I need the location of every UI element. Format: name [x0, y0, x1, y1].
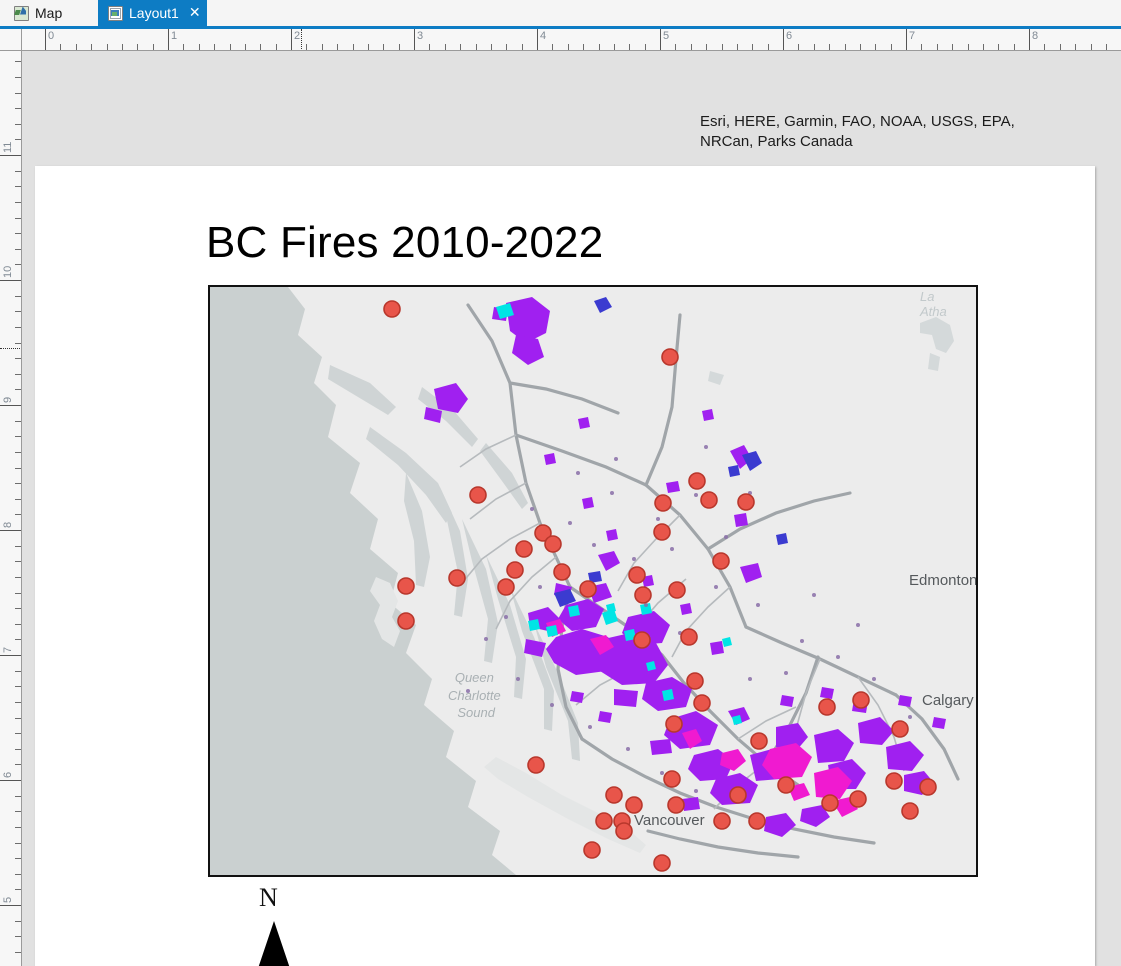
ruler-tick-minor [15, 343, 21, 344]
ruler-tick-minor [60, 44, 61, 50]
tab-layout1[interactable]: Layout1 ✕ [98, 0, 207, 26]
ruler-tick-minor [214, 44, 215, 50]
ruler-tick-major [0, 530, 22, 531]
ruler-tick-minor [15, 499, 21, 500]
ruler-tick-minor [15, 811, 21, 812]
close-icon[interactable]: ✕ [189, 6, 201, 20]
map-icon [14, 6, 29, 21]
ruler-tick-minor [15, 608, 21, 609]
arcgis-pro-layout-window: Map Layout1 ✕ 012345678 111098765 Esri, … [0, 0, 1121, 966]
ruler-tick-minor [15, 124, 21, 125]
ruler-tick-minor [15, 311, 21, 312]
ruler-tick-minor [15, 718, 21, 719]
map-graphic [210, 287, 976, 875]
ruler-tick-minor [445, 44, 446, 50]
ruler-tick-minor [937, 44, 938, 50]
ruler-guide-horizontal[interactable] [301, 29, 302, 51]
ruler-label: 5 [660, 30, 669, 42]
ruler-tick-minor [15, 843, 21, 844]
ruler-tick-minor [15, 61, 21, 62]
ruler-tick-minor [15, 186, 21, 187]
ruler-tick-minor [15, 171, 21, 172]
ruler-tick-minor [860, 44, 861, 50]
ruler-tick-minor [506, 44, 507, 50]
ruler-tick-minor [429, 44, 430, 50]
ruler-tick-minor [368, 44, 369, 50]
ruler-tick-minor [15, 593, 21, 594]
ruler-tick-minor [568, 44, 569, 50]
ruler-tick-minor [245, 44, 246, 50]
basemap-attribution: Esri, HERE, Garmin, FAO, NOAA, USGS, EPA… [700, 112, 1030, 153]
ruler-tick-minor [230, 44, 231, 50]
page-title[interactable]: BC Fires 2010-2022 [206, 218, 603, 268]
ruler-tick-minor [814, 44, 815, 50]
ruler-tick-minor [522, 44, 523, 50]
ruler-tick-minor [15, 374, 21, 375]
ruler-tick-major [0, 405, 22, 406]
ruler-tick-minor [1060, 44, 1061, 50]
ruler-tick-minor [15, 546, 21, 547]
ruler-label: 8 [2, 522, 14, 528]
ruler-tick-minor [737, 44, 738, 50]
ruler-tick-minor [15, 327, 21, 328]
ruler-tick-minor [706, 44, 707, 50]
north-arrow-icon [243, 921, 305, 966]
ruler-tick-minor [383, 44, 384, 50]
horizontal-ruler[interactable]: 012345678 [22, 29, 1121, 51]
ruler-tick-minor [15, 249, 21, 250]
ruler-tick-minor [629, 44, 630, 50]
ruler-tick-minor [322, 44, 323, 50]
ruler-tick-minor [15, 218, 21, 219]
ruler-tick-minor [845, 44, 846, 50]
ruler-tick-minor [15, 358, 21, 359]
ruler-label: 6 [783, 30, 792, 42]
ruler-tick-minor [76, 44, 77, 50]
ruler-tick-minor [15, 577, 21, 578]
ruler-tick-major [0, 780, 22, 781]
ruler-label: 0 [45, 30, 54, 42]
ruler-tick-minor [15, 233, 21, 234]
ruler-tick-minor [91, 44, 92, 50]
ruler-tick-minor [399, 44, 400, 50]
layout-page[interactable]: BC Fires 2010-2022 [35, 166, 1095, 966]
ruler-label: 7 [906, 30, 915, 42]
ruler-tick-minor [15, 561, 21, 562]
ruler-tick-minor [260, 44, 261, 50]
vertical-ruler[interactable]: 111098765 [0, 51, 22, 966]
ruler-tick-minor [891, 44, 892, 50]
layout-icon [108, 6, 123, 21]
ruler-tick-minor [107, 44, 108, 50]
ruler-tick-minor [15, 671, 21, 672]
ruler-label: 4 [537, 30, 546, 42]
tab-layout1-label: Layout1 [129, 5, 179, 21]
ruler-tick-minor [15, 93, 21, 94]
ruler-tick-minor [1014, 44, 1015, 50]
ruler-label: 8 [1029, 30, 1038, 42]
ruler-tick-minor [15, 202, 21, 203]
ruler-label: 11 [2, 142, 14, 153]
ruler-tick-minor [968, 44, 969, 50]
ruler-tick-minor [15, 421, 21, 422]
ruler-tick-minor [599, 44, 600, 50]
ruler-tick-minor [552, 44, 553, 50]
north-arrow-label: N [259, 883, 278, 913]
ruler-tick-minor [15, 889, 21, 890]
ruler-tick-major [0, 655, 22, 656]
ruler-tick-minor [15, 827, 21, 828]
ruler-tick-minor [15, 296, 21, 297]
ruler-tick-minor [491, 44, 492, 50]
ruler-corner [0, 29, 22, 51]
ruler-tick-minor [921, 44, 922, 50]
ruler-label: 2 [291, 30, 300, 42]
tab-map[interactable]: Map [4, 0, 72, 26]
ruler-tick-minor [15, 796, 21, 797]
ruler-label: 10 [2, 266, 14, 278]
ruler-tick-minor [15, 514, 21, 515]
ruler-tick-minor [15, 483, 21, 484]
ruler-tick-minor [829, 44, 830, 50]
ruler-tick-minor [476, 44, 477, 50]
ruler-tick-minor [137, 44, 138, 50]
ruler-tick-minor [752, 44, 753, 50]
ruler-tick-minor [15, 436, 21, 437]
ruler-tick-minor [15, 686, 21, 687]
ruler-tick-minor [983, 44, 984, 50]
layout-canvas[interactable]: Esri, HERE, Garmin, FAO, NOAA, USGS, EPA… [22, 51, 1121, 966]
ruler-tick-minor [15, 77, 21, 78]
north-arrow[interactable]: N [235, 883, 315, 966]
ruler-tick-minor [15, 921, 21, 922]
ruler-tick-minor [15, 139, 21, 140]
ruler-tick-minor [353, 44, 354, 50]
ruler-tick-minor [15, 952, 21, 953]
ruler-label: 9 [2, 397, 14, 403]
ruler-label: 6 [2, 772, 14, 778]
ruler-label: 5 [2, 897, 14, 903]
ruler-tick-minor [952, 44, 953, 50]
view-tab-strip: Map Layout1 ✕ [0, 0, 1121, 26]
ruler-tick-major [0, 280, 22, 281]
ruler-label: 1 [168, 30, 177, 42]
ruler-tick-minor [15, 468, 21, 469]
ruler-tick-minor [199, 44, 200, 50]
ruler-tick-minor [460, 44, 461, 50]
ruler-tick-major [0, 155, 22, 156]
ruler-label: 7 [2, 647, 14, 653]
ruler-tick-minor [691, 44, 692, 50]
ruler-tick-minor [15, 624, 21, 625]
ruler-tick-minor [875, 44, 876, 50]
ruler-tick-minor [15, 702, 21, 703]
ruler-tick-minor [183, 44, 184, 50]
ruler-tick-minor [122, 44, 123, 50]
ruler-tick-major [0, 905, 22, 906]
ruler-tick-minor [1091, 44, 1092, 50]
ruler-tick-minor [722, 44, 723, 50]
ruler-tick-minor [153, 44, 154, 50]
ruler-tick-minor [15, 639, 21, 640]
tab-map-label: Map [35, 5, 62, 21]
ruler-tick-minor [15, 874, 21, 875]
ruler-tick-minor [276, 44, 277, 50]
ruler-tick-minor [998, 44, 999, 50]
ruler-tick-minor [1044, 44, 1045, 50]
ruler-guide-vertical[interactable] [0, 348, 22, 349]
ruler-tick-minor [15, 936, 21, 937]
ruler-tick-minor [15, 108, 21, 109]
ruler-tick-minor [15, 749, 21, 750]
ruler-tick-minor [768, 44, 769, 50]
ruler-tick-minor [15, 452, 21, 453]
ruler-tick-minor [1106, 44, 1107, 50]
ruler-tick-minor [15, 733, 21, 734]
ruler-tick-minor [15, 858, 21, 859]
ruler-tick-minor [306, 44, 307, 50]
ruler-tick-minor [675, 44, 676, 50]
ruler-tick-minor [15, 764, 21, 765]
ruler-tick-minor [614, 44, 615, 50]
ruler-tick-minor [337, 44, 338, 50]
ruler-tick-minor [798, 44, 799, 50]
map-frame[interactable]: La Atha Queen Charlotte Sound Vancouver … [208, 285, 978, 877]
ruler-tick-minor [645, 44, 646, 50]
ruler-tick-minor [15, 389, 21, 390]
ruler-label: 3 [414, 30, 423, 42]
ruler-tick-minor [1075, 44, 1076, 50]
ruler-tick-minor [583, 44, 584, 50]
ruler-tick-minor [15, 264, 21, 265]
